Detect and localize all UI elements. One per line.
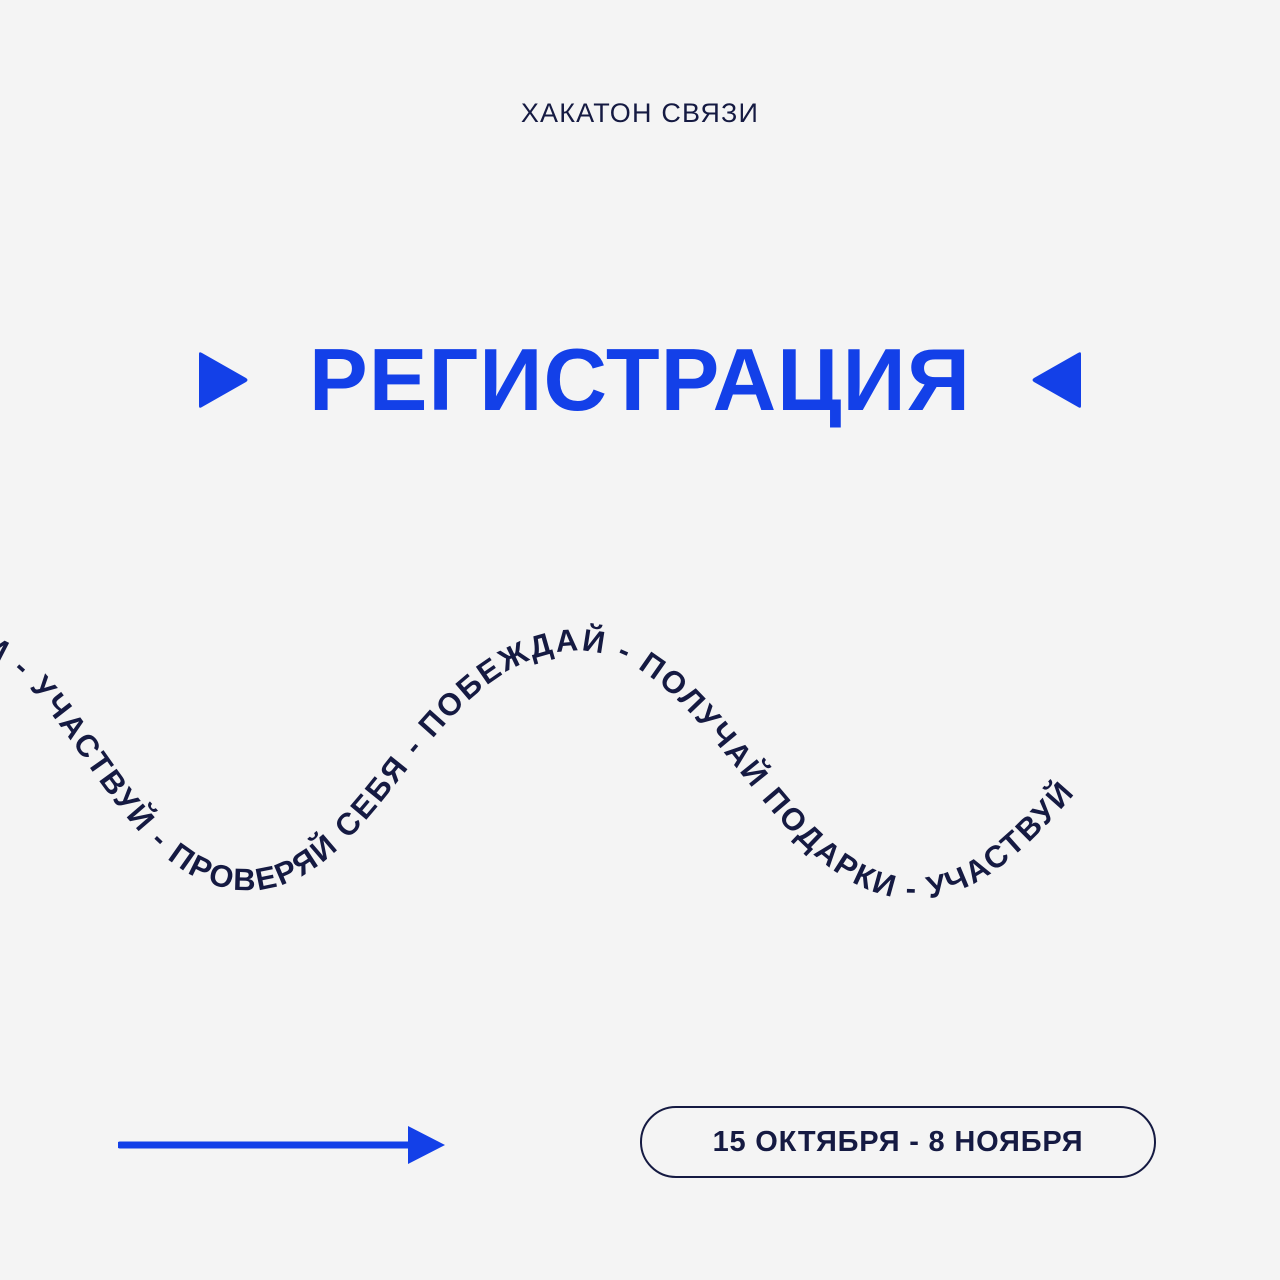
hero-title-row: РЕГИСТРАЦИЯ	[0, 325, 1280, 435]
arrow-right-icon	[118, 1120, 448, 1170]
date-range-badge[interactable]: 15 ОКТЯБРЯ - 8 НОЯБРЯ	[640, 1106, 1156, 1178]
poster-canvas: ХАКАТОН СВЯЗИ РЕГИСТРАЦИЯ КИ - УЧАСТВУЙ …	[0, 0, 1280, 1280]
wave-marquee-textpath: КИ - УЧАСТВУЙ - ПРОВЕРЯЙ СЕБЯ - ПОБЕЖДАЙ…	[0, 621, 1081, 906]
wave-marquee-text: КИ - УЧАСТВУЙ - ПРОВЕРЯЙ СЕБЯ - ПОБЕЖДАЙ…	[0, 621, 1081, 906]
play-triangle-right-icon	[193, 349, 251, 411]
date-range-label: 15 ОКТЯБРЯ - 8 НОЯБРЯ	[713, 1126, 1084, 1159]
event-kicker: ХАКАТОН СВЯЗИ	[0, 98, 1280, 129]
page-title: РЕГИСТРАЦИЯ	[309, 336, 971, 424]
play-triangle-left-icon	[1029, 349, 1087, 411]
wave-marquee: КИ - УЧАСТВУЙ - ПРОВЕРЯЙ СЕБЯ - ПОБЕЖДАЙ…	[0, 580, 1280, 960]
